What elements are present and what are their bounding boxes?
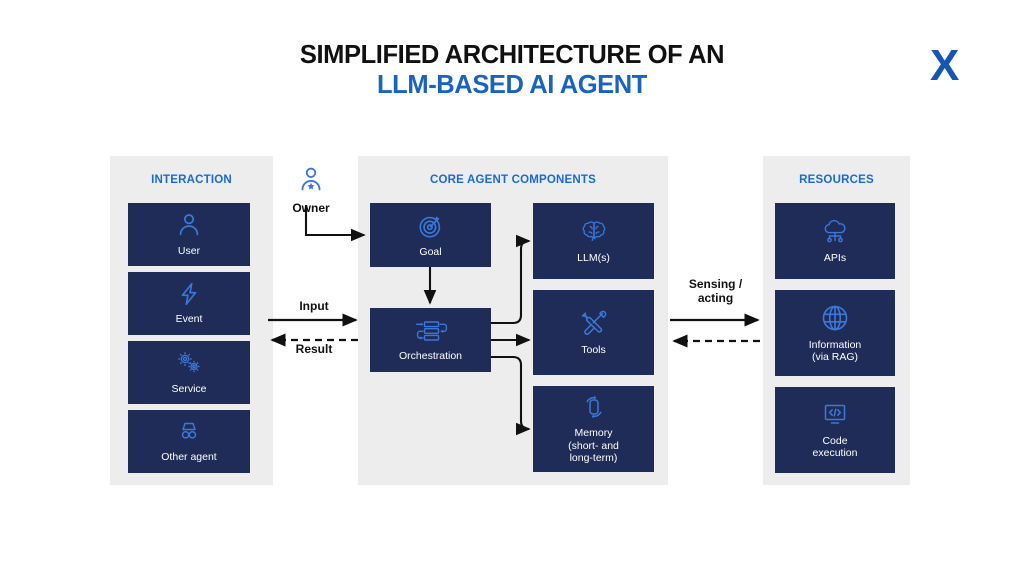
node-llm-label: LLM(s) (577, 252, 610, 264)
page-title: SIMPLIFIED ARCHITECTURE OF AN LLM-BASED … (0, 40, 1024, 100)
owner-label: Owner (285, 201, 337, 215)
workflow-icon (411, 318, 451, 344)
node-llm[interactable]: LLM(s) (533, 203, 654, 279)
node-user-label: User (178, 245, 200, 257)
page-title-line-2: LLM-BASED AI AGENT (0, 70, 1024, 100)
node-service-label: Service (171, 383, 206, 395)
panel-core-title: CORE AGENT COMPONENTS (358, 174, 668, 186)
globe-icon (820, 303, 850, 333)
robot-icon (174, 419, 204, 445)
node-apis-label: APIs (824, 252, 846, 264)
node-other-agent[interactable]: Other agent (128, 410, 250, 473)
brain-icon (579, 218, 609, 246)
memory-refresh-icon (580, 393, 608, 421)
node-memory[interactable]: Memory (short- and long-term) (533, 386, 654, 472)
target-icon (417, 212, 445, 240)
panel-interaction-title: INTERACTION (110, 174, 273, 186)
node-code-label: Code execution (813, 435, 858, 460)
brand-logo-x: X (930, 44, 958, 88)
node-user[interactable]: User (128, 203, 250, 266)
node-service[interactable]: Service (128, 341, 250, 404)
node-apis[interactable]: APIs (775, 203, 895, 279)
node-orchestration[interactable]: Orchestration (370, 308, 491, 372)
node-event[interactable]: Event (128, 272, 250, 335)
node-tools[interactable]: Tools (533, 290, 654, 375)
lightning-bolt-icon (176, 281, 202, 307)
node-event-label: Event (176, 313, 203, 325)
code-monitor-icon (820, 401, 850, 429)
node-memory-label: Memory (short- and long-term) (568, 427, 619, 464)
node-goal[interactable]: Goal (370, 203, 491, 267)
node-other-agent-label: Other agent (161, 451, 216, 463)
person-star-icon (296, 182, 326, 199)
page-title-line-1: SIMPLIFIED ARCHITECTURE OF AN (0, 40, 1024, 70)
connector-label-input: Input (268, 300, 360, 314)
panel-resources-title: RESOURCES (763, 174, 910, 186)
node-goal-label: Goal (419, 246, 441, 258)
node-orchestration-label: Orchestration (399, 350, 462, 362)
node-tools-label: Tools (581, 344, 606, 356)
tools-icon (579, 308, 609, 338)
connector-label-result: Result (268, 343, 360, 357)
node-information[interactable]: Information (via RAG) (775, 290, 895, 376)
person-icon (175, 211, 203, 239)
cloud-network-icon (819, 218, 851, 246)
actor-owner: Owner (285, 165, 337, 215)
gears-icon (174, 349, 204, 377)
connector-label-sensing-acting: Sensing / acting (668, 278, 763, 306)
node-information-label: Information (via RAG) (809, 339, 862, 364)
node-code[interactable]: Code execution (775, 387, 895, 473)
